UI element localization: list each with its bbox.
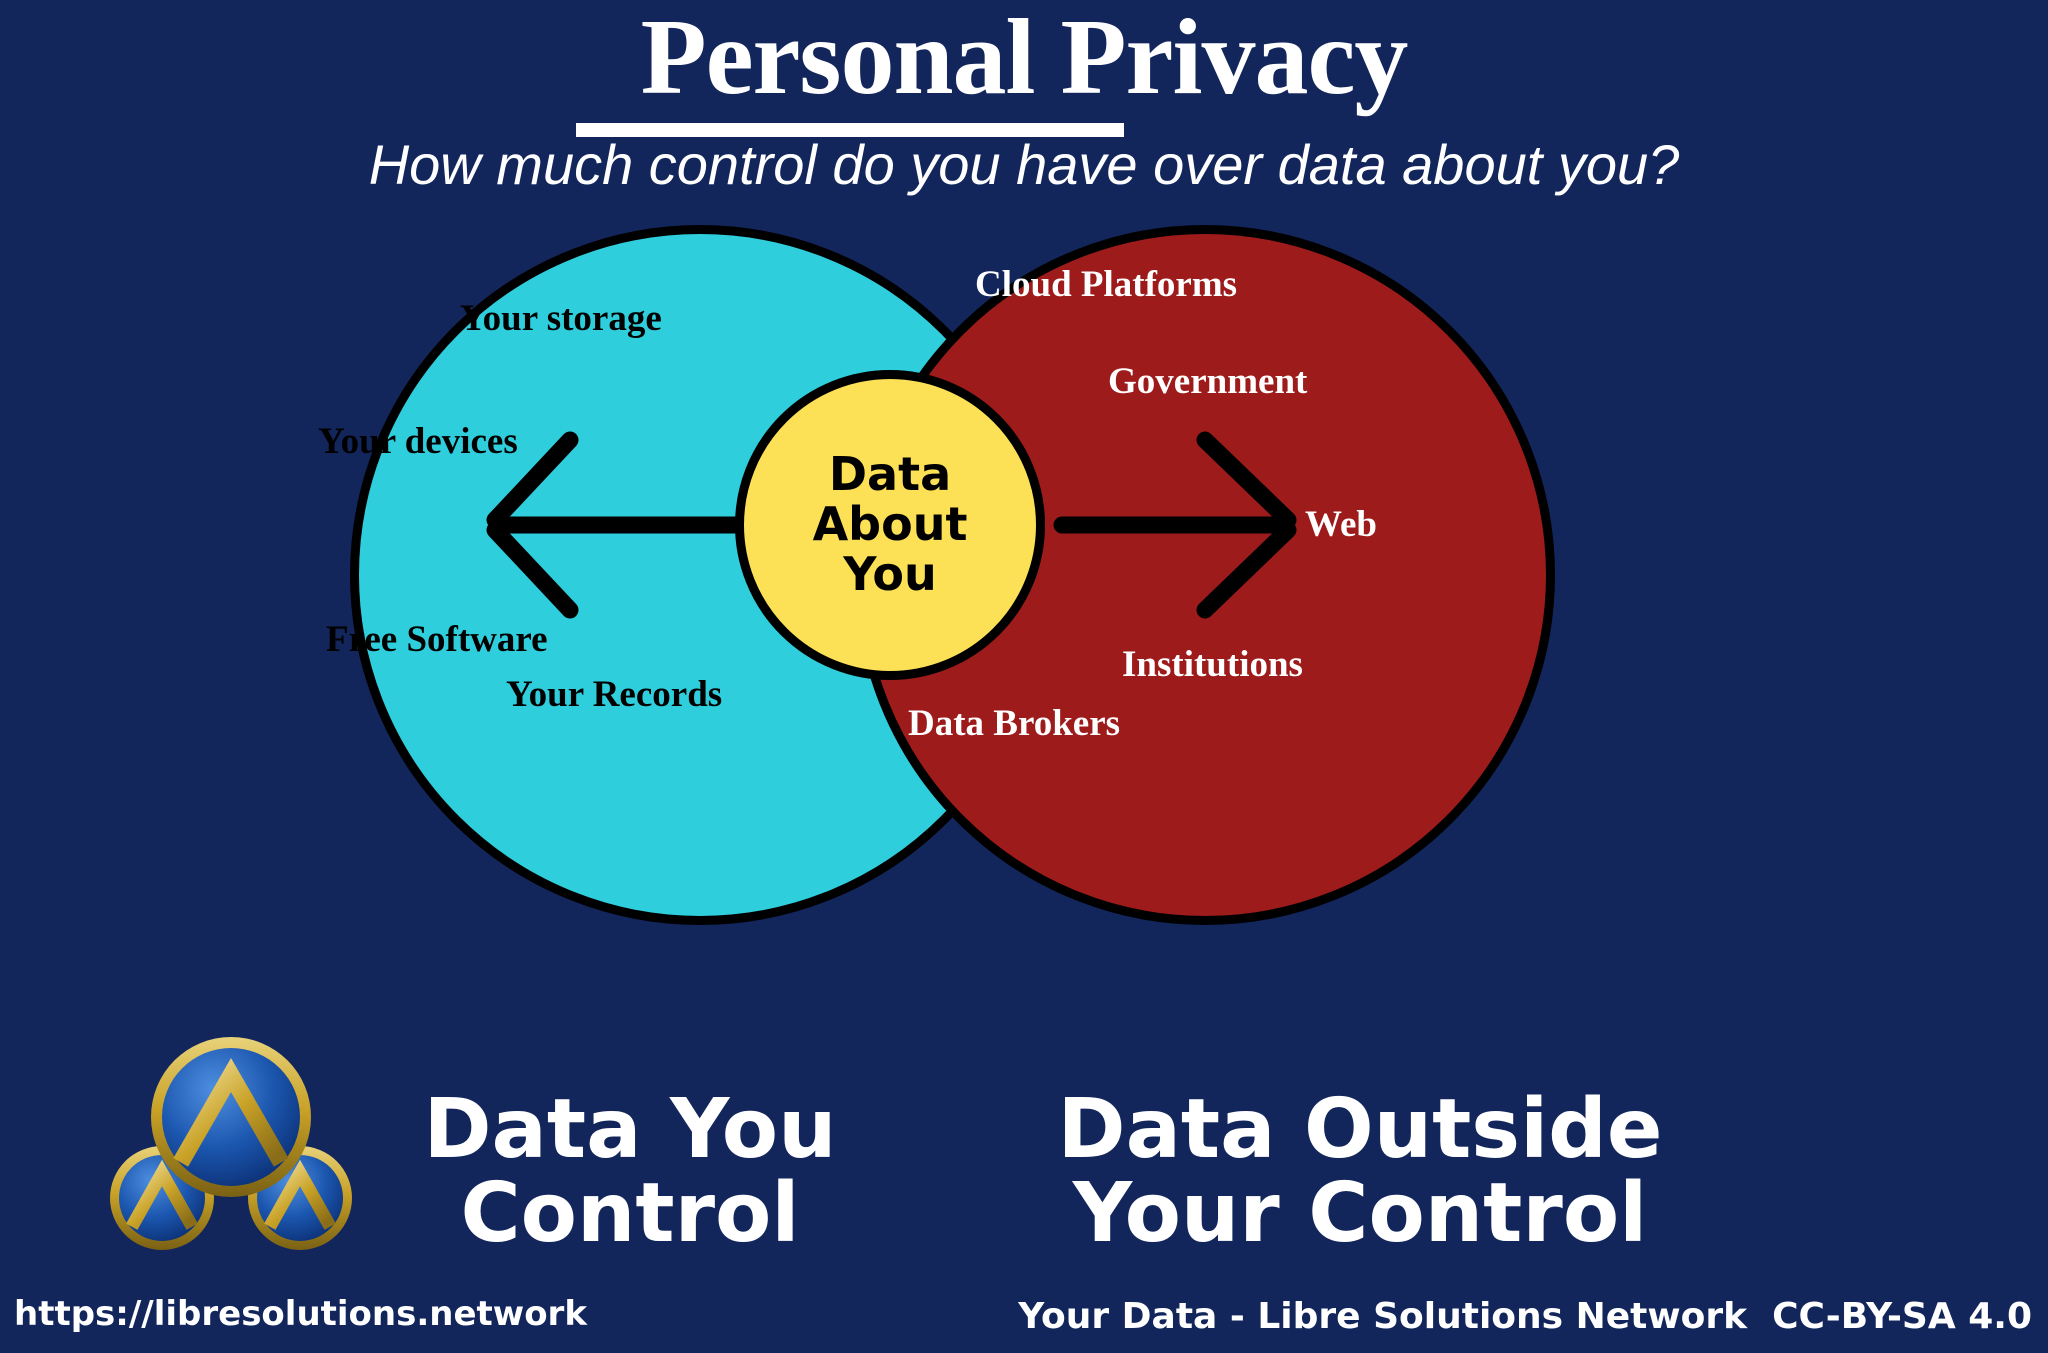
- left-item-your-storage: Your storage: [460, 297, 662, 340]
- data-about-you-label: Data About You: [744, 450, 1036, 599]
- arrows-layer: [0, 215, 2048, 1045]
- data-about-you-node: Data About You: [735, 370, 1045, 680]
- footer-license-credit: Your Data - Libre Solutions Network CC-B…: [1018, 1296, 2032, 1337]
- right-group-heading: Data Outside Your Control: [1000, 1088, 1720, 1255]
- right-item-web: Web: [1305, 503, 1377, 546]
- footer-website-url[interactable]: https://libresolutions.network: [14, 1294, 587, 1334]
- right-item-cloud-platforms: Cloud Platforms: [975, 263, 1237, 306]
- right-item-data-brokers: Data Brokers: [908, 702, 1120, 745]
- logo-circle-top: [151, 1037, 311, 1197]
- left-item-your-records: Your Records: [506, 673, 722, 716]
- left-item-your-devices: Your devices: [318, 420, 518, 463]
- page-subtitle: How much control do you have over data a…: [0, 132, 2048, 197]
- right-item-government: Government: [1108, 360, 1307, 403]
- venn-diagram: Data About You Your storage Your devices…: [0, 215, 2048, 1045]
- arrow-left-icon: [495, 440, 740, 610]
- infographic-canvas: Personal Privacy How much control do you…: [0, 0, 2048, 1353]
- libre-solutions-network-logo: [105, 1033, 355, 1253]
- arrow-right-icon: [1062, 440, 1288, 610]
- left-item-free-software: Free Software: [326, 618, 548, 661]
- right-item-institutions: Institutions: [1122, 643, 1303, 686]
- left-group-heading: Data You Control: [330, 1088, 930, 1255]
- page-title: Personal Privacy: [0, 4, 2048, 112]
